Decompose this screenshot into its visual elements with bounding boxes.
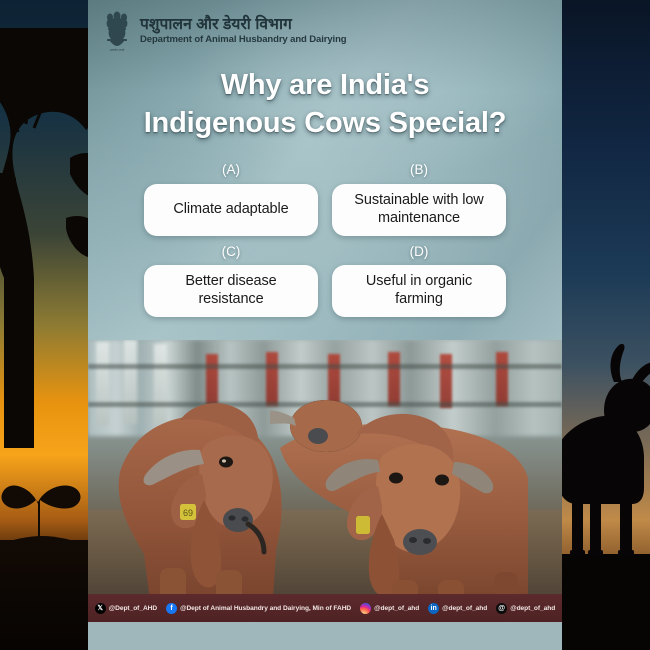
social-link-threads[interactable]: @ @dept_of_ahd bbox=[496, 603, 555, 614]
small-tree-silhouette-icon bbox=[0, 460, 88, 546]
department-name-english: Department of Animal Husbandry and Dairy… bbox=[140, 35, 347, 45]
left-backdrop-panel bbox=[0, 0, 88, 650]
department-header: सत्यमेव जयते पशुपालन और डेयरी विभाग Depa… bbox=[88, 0, 562, 62]
option-key-a: (A) bbox=[222, 160, 240, 180]
option-card-a[interactable]: Climate adaptable bbox=[144, 184, 318, 236]
title-line-2: Indigenous Cows Special? bbox=[104, 104, 546, 142]
social-link-x[interactable]: 𝕏 @Dept_of_AHD bbox=[95, 603, 157, 614]
option-cell-b: (B) Sustainable with low maintenance bbox=[332, 160, 506, 236]
facebook-icon: f bbox=[166, 603, 177, 614]
poster-card: सत्यमेव जयते पशुपालन और डेयरी विभाग Depa… bbox=[88, 0, 562, 650]
x-handle: @Dept_of_AHD bbox=[109, 605, 157, 612]
cow-front-right bbox=[270, 374, 530, 622]
option-card-c[interactable]: Better disease resistance bbox=[144, 265, 318, 317]
svg-text:69: 69 bbox=[183, 508, 193, 518]
department-name-hindi: पशुपालन और डेयरी विभाग bbox=[140, 17, 347, 33]
threads-icon: @ bbox=[496, 603, 507, 614]
option-cell-d: (D) Useful in organic farming bbox=[332, 242, 506, 318]
option-cell-a: (A) Climate adaptable bbox=[144, 160, 318, 236]
instagram-icon bbox=[360, 603, 371, 614]
social-link-facebook[interactable]: f @Dept of Animal Husbandry and Dairying… bbox=[166, 603, 351, 614]
social-link-instagram[interactable]: @dept_of_ahd bbox=[360, 603, 419, 614]
linkedin-icon: in bbox=[428, 603, 439, 614]
option-label-c: Better disease resistance bbox=[153, 273, 309, 309]
facebook-handle: @Dept of Animal Husbandry and Dairying, … bbox=[180, 605, 351, 612]
option-label-b: Sustainable with low maintenance bbox=[341, 192, 497, 228]
x-twitter-icon: 𝕏 bbox=[95, 603, 106, 614]
option-card-d[interactable]: Useful in organic farming bbox=[332, 265, 506, 317]
right-backdrop-panel bbox=[562, 0, 650, 650]
threads-handle: @dept_of_ahd bbox=[510, 605, 555, 612]
linkedin-handle: @dept_of_ahd bbox=[442, 605, 487, 612]
poster-stage: सत्यमेव जयते पशुपालन और डेयरी विभाग Depa… bbox=[0, 0, 650, 650]
left-ground bbox=[0, 540, 88, 650]
option-key-d: (D) bbox=[410, 242, 429, 262]
social-link-linkedin[interactable]: in @dept_of_ahd bbox=[428, 603, 487, 614]
instagram-handle: @dept_of_ahd bbox=[374, 605, 419, 612]
option-key-c: (C) bbox=[222, 242, 241, 262]
option-label-a: Climate adaptable bbox=[173, 201, 288, 219]
cow-photograph: 69 bbox=[88, 340, 562, 622]
options-grid: (A) Climate adaptable (B) Sustainable wi… bbox=[88, 160, 562, 317]
option-card-b[interactable]: Sustainable with low maintenance bbox=[332, 184, 506, 236]
social-media-bar: 𝕏 @Dept_of_AHD f @Dept of Animal Husband… bbox=[88, 594, 562, 622]
ashoka-emblem-icon: सत्यमेव जयते bbox=[102, 9, 132, 53]
option-label-d: Useful in organic farming bbox=[341, 273, 497, 309]
cow-silhouette-icon bbox=[562, 338, 650, 558]
option-key-b: (B) bbox=[410, 160, 428, 180]
poster-title: Why are India's Indigenous Cows Special? bbox=[88, 66, 562, 143]
option-cell-c: (C) Better disease resistance bbox=[144, 242, 318, 318]
svg-text:सत्यमेव जयते: सत्यमेव जयते bbox=[110, 48, 125, 52]
title-line-1: Why are India's bbox=[104, 66, 546, 104]
right-ground bbox=[562, 554, 650, 650]
tree-silhouette-icon bbox=[0, 28, 88, 448]
